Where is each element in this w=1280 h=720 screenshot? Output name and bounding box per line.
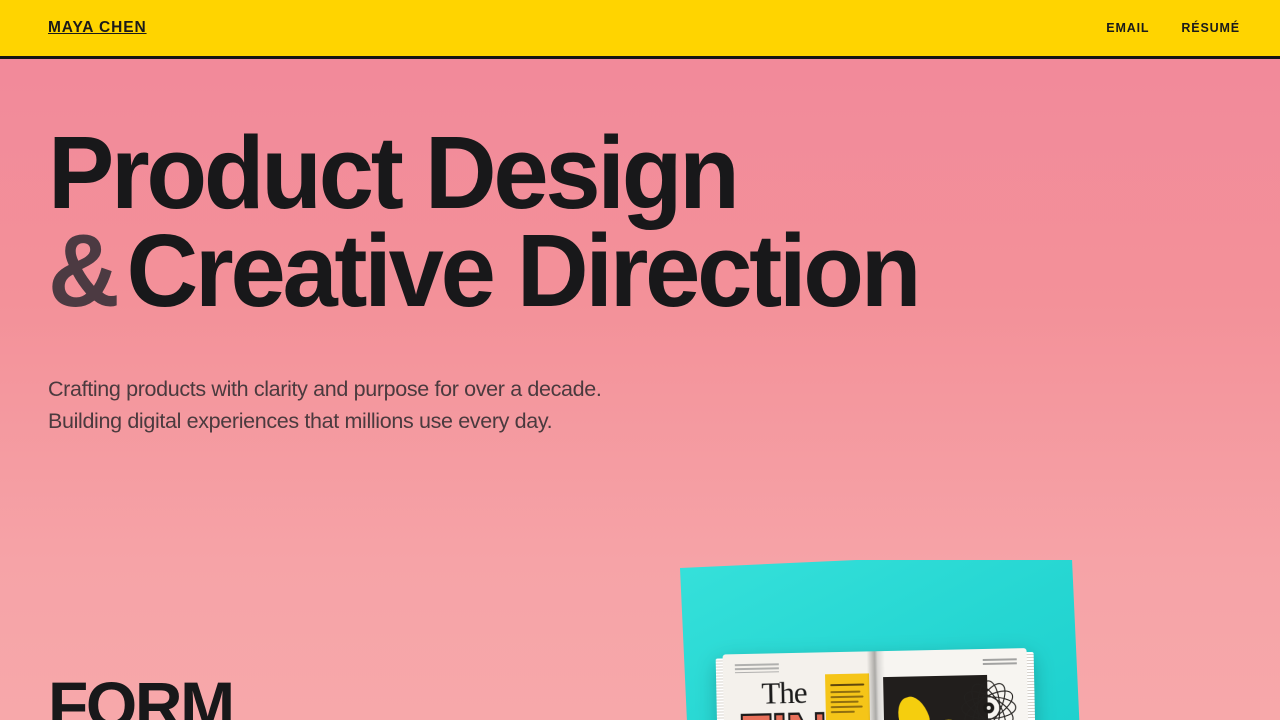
- page-root: MAYA CHEN EMAIL RÉSUMÉ Product Design &C…: [0, 0, 1280, 720]
- zine-yellow-sidebar: [825, 673, 872, 720]
- primary-nav: EMAIL RÉSUMÉ: [1106, 22, 1240, 35]
- open-magazine: The ZIN: [723, 648, 1033, 720]
- yellow-drop-shape-small: [892, 693, 933, 720]
- site-header: MAYA CHEN EMAIL RÉSUMÉ: [0, 0, 1280, 59]
- headline-line-2-text: Creative Direction: [127, 213, 919, 328]
- subhead-line-1: Crafting products with clarity and purpo…: [48, 373, 1280, 406]
- headline-ampersand: &: [48, 213, 127, 328]
- nav-link-email[interactable]: EMAIL: [1106, 22, 1149, 35]
- zine-title: ZIN: [738, 704, 827, 720]
- zine-photo: The ZIN: [676, 560, 1080, 720]
- section-heading-form: FORM: [48, 672, 233, 720]
- headline-line-2: &Creative Direction: [48, 222, 1237, 320]
- zine-backdrop: The ZIN: [680, 560, 1080, 720]
- atom-diagram-icon: [957, 676, 1020, 720]
- magazine-right-page: [875, 648, 1031, 720]
- page-title: Product Design &Creative Direction: [48, 124, 1237, 321]
- left-page-meta-lines: [735, 663, 779, 673]
- brand-logo[interactable]: MAYA CHEN: [48, 20, 147, 36]
- nav-link-resume[interactable]: RÉSUMÉ: [1181, 22, 1240, 35]
- magazine-left-page: The ZIN: [723, 651, 879, 720]
- hero-subheading: Crafting products with clarity and purpo…: [48, 373, 1280, 438]
- hero-section: Product Design &Creative Direction Craft…: [0, 62, 1280, 438]
- subhead-line-2: Building digital experiences that millio…: [48, 405, 1280, 438]
- right-page-meta-lines: [983, 658, 1017, 667]
- headline-line-1: Product Design: [48, 124, 1237, 222]
